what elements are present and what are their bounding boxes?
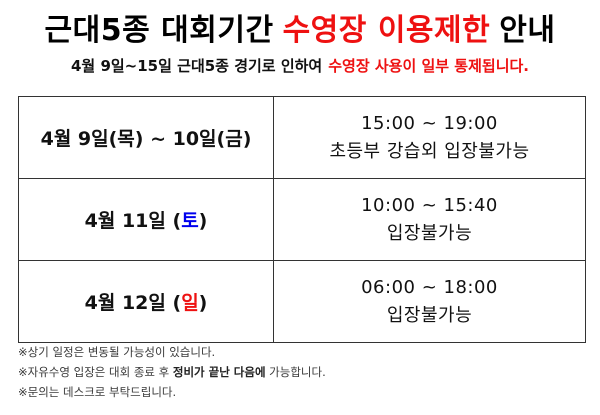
schedule-date-cell: 4월 11일 (토) — [19, 179, 274, 261]
title-segment-announcement: 안내 — [499, 13, 555, 48]
schedule-date-cell: 4월 12일 (일) — [19, 261, 274, 343]
footnote-free-swim-emphasis: 정비가 끝난 다음에 — [173, 365, 266, 379]
schedule-time: 15:00 ~ 19:00 — [274, 110, 585, 138]
schedule-info-cell: 06:00 ~ 18:00 입장불가능 — [274, 261, 586, 343]
date-suffix: ) — [199, 210, 208, 232]
schedule-note: 입장불가능 — [274, 302, 585, 330]
schedule-time: 06:00 ~ 18:00 — [274, 274, 585, 302]
title-segment-event: 근대5종 대회기간 — [45, 13, 274, 48]
table-row: 4월 9일(목) ~ 10일(금) 15:00 ~ 19:00 초등부 강습외 … — [19, 97, 586, 179]
date-prefix: 4월 9일(목) ~ 10일(금) — [41, 128, 252, 150]
footnotes: ※상기 일정은 변동될 가능성이 있습니다. ※자유수영 입장은 대회 종료 후… — [18, 343, 588, 402]
footnote-inquiry: ※문의는 데스크로 부탁드립니다. — [18, 383, 588, 403]
date-day-label: 일 — [181, 292, 198, 314]
date-prefix: 4월 11일 ( — [85, 210, 182, 232]
table-row: 4월 11일 (토) 10:00 ~ 15:40 입장불가능 — [19, 179, 586, 261]
schedule-info-cell: 15:00 ~ 19:00 초등부 강습외 입장불가능 — [274, 97, 586, 179]
schedule-time: 10:00 ~ 15:40 — [274, 192, 585, 220]
subtitle-segment-reason: 4월 9일~15일 근대5종 경기로 인하여 — [71, 57, 322, 75]
date-day-label: 토 — [181, 210, 198, 232]
swimming-pool-restriction-notice: 근대5종 대회기간수영장 이용제한안내 4월 9일~15일 근대5종 경기로 인… — [0, 0, 600, 415]
footnote-schedule-change: ※상기 일정은 변동될 가능성이 있습니다. — [18, 343, 588, 363]
schedule-note: 입장불가능 — [274, 220, 585, 248]
date-prefix: 4월 12일 ( — [85, 292, 182, 314]
title-segment-restriction: 수영장 이용제한 — [283, 13, 491, 48]
schedule-date-cell: 4월 9일(목) ~ 10일(금) — [19, 97, 274, 179]
footnote-free-swim-text-1: ※자유수영 입장은 대회 종료 후 — [18, 365, 173, 379]
footnote-free-swim-text-2: 가능합니다. — [266, 365, 326, 379]
table-row: 4월 12일 (일) 06:00 ~ 18:00 입장불가능 — [19, 261, 586, 343]
schedule-note: 초등부 강습외 입장불가능 — [274, 138, 585, 166]
page-subtitle: 4월 9일~15일 근대5종 경기로 인하여수영장 사용이 일부 통제됩니다. — [0, 57, 600, 77]
date-suffix: ) — [199, 292, 208, 314]
schedule-table: 4월 9일(목) ~ 10일(금) 15:00 ~ 19:00 초등부 강습외 … — [18, 96, 586, 343]
schedule-info-cell: 10:00 ~ 15:40 입장불가능 — [274, 179, 586, 261]
page-title: 근대5종 대회기간수영장 이용제한안내 — [0, 12, 600, 50]
subtitle-segment-effect: 수영장 사용이 일부 통제됩니다. — [328, 57, 529, 75]
footnote-free-swim: ※자유수영 입장은 대회 종료 후 정비가 끝난 다음에 가능합니다. — [18, 363, 588, 383]
